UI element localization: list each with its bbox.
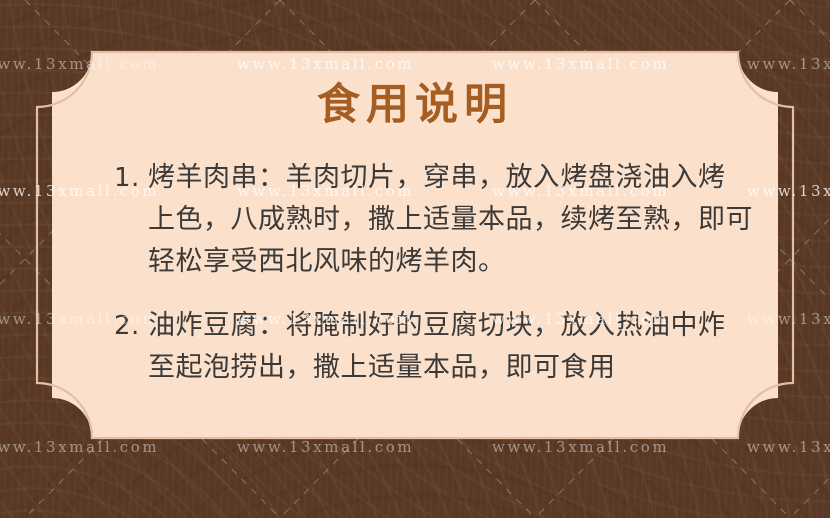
list-item-text: 油炸豆腐：将腌制好的豆腐切块，放入热油中炸 至起泡捞出，撒上适量本品，即可食用 <box>148 305 754 389</box>
watermark-text: www.13xmall.com <box>492 438 669 456</box>
usage-instructions-poster: 食用说明 1. 烤羊肉串：羊肉切片，穿串，放入烤盘浇油入烤 上色，八成熟时，撒上… <box>0 0 830 518</box>
list-item: 2. 油炸豆腐：将腌制好的豆腐切块，放入热油中炸 至起泡捞出，撒上适量本品，即可… <box>114 305 754 389</box>
list-item-text: 烤羊肉串：羊肉切片，穿串，放入烤盘浇油入烤 上色，八成熟时，撒上适量本品，续烤至… <box>148 157 754 283</box>
text-line: 轻松享受西北风味的烤羊肉。 <box>148 241 754 283</box>
text-line: 烤羊肉串：羊肉切片，穿串，放入烤盘浇油入烤 <box>148 157 754 199</box>
text-line: 至起泡捞出，撒上适量本品，即可食用 <box>148 347 754 389</box>
watermark-text: www.13xmall.com <box>0 438 159 456</box>
list-item-marker: 2. <box>114 305 148 347</box>
text-line: 油炸豆腐：将腌制好的豆腐切块，放入热油中炸 <box>148 305 754 347</box>
text-line: 上色，八成熟时，撒上适量本品，续烤至熟，即可 <box>148 199 754 241</box>
page-title: 食用说明 <box>52 84 778 127</box>
instruction-list: 1. 烤羊肉串：羊肉切片，穿串，放入烤盘浇油入烤 上色，八成熟时，撒上适量本品，… <box>114 157 754 411</box>
list-item: 1. 烤羊肉串：羊肉切片，穿串，放入烤盘浇油入烤 上色，八成熟时，撒上适量本品，… <box>114 157 754 283</box>
panel-content: 食用说明 1. 烤羊肉串：羊肉切片，穿串，放入烤盘浇油入烤 上色，八成熟时，撒上… <box>52 52 778 438</box>
watermark-text: www.13xmall.com <box>747 438 830 456</box>
list-item-marker: 1. <box>114 157 148 199</box>
watermark-text: www.13xmall.com <box>237 438 414 456</box>
